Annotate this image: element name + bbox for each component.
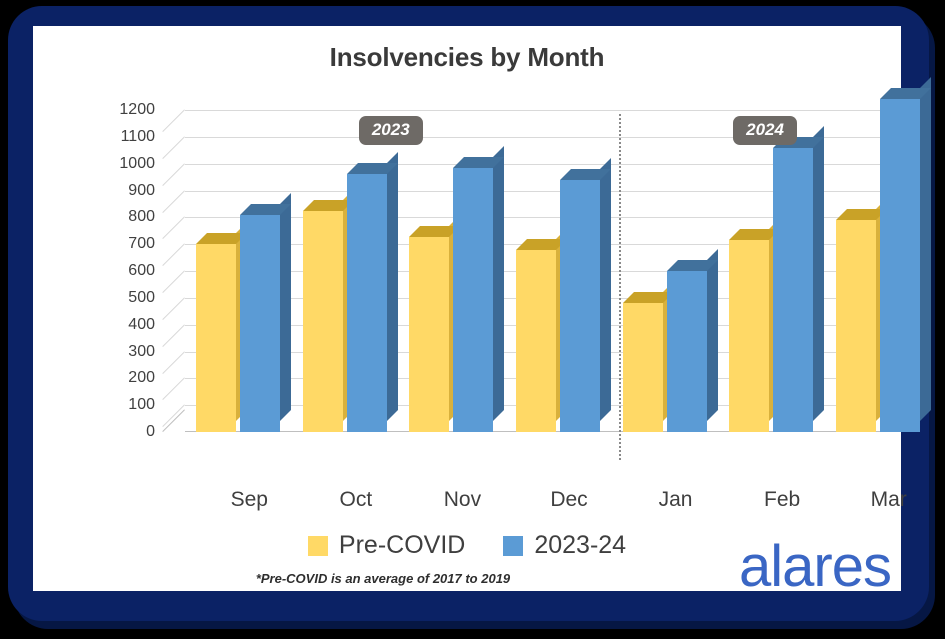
x-axis-tick-label-mar: Mar <box>871 488 907 512</box>
bar-nov-2023-24[interactable] <box>453 168 493 432</box>
gridline-depth-edge <box>163 110 185 132</box>
legend-label-pre-covid: Pre-COVID <box>339 531 465 560</box>
bar-front-face <box>773 148 813 432</box>
bar-group <box>623 110 707 432</box>
bar-group <box>516 110 600 432</box>
legend-label-2023-24: 2023-24 <box>534 531 626 560</box>
bar-front-face <box>196 244 236 432</box>
year-badge-2024: 2024 <box>733 116 797 145</box>
bar-side-face <box>493 146 504 421</box>
gridline-depth-edge <box>163 298 185 320</box>
bar-front-face <box>453 168 493 432</box>
bar-nov-pre-covid[interactable] <box>409 237 449 432</box>
gridline-depth-edge <box>163 164 185 186</box>
x-axis-tick-label-sep: Sep <box>231 488 268 512</box>
alares-logo: alares <box>739 538 891 596</box>
bar-front-face <box>240 215 280 432</box>
grid-area: 20232024 <box>163 110 893 454</box>
y-axis-tick-label: 200 <box>103 369 155 387</box>
bar-front-face <box>347 174 387 432</box>
legend-item-2023-24[interactable]: 2023-24 <box>503 531 626 560</box>
y-axis-tick-label: 1000 <box>103 155 155 173</box>
bar-front-face <box>516 250 556 432</box>
x-axis-tick-label-jan: Jan <box>659 488 693 512</box>
gridline-depth-edge <box>163 137 185 159</box>
bar-side-face <box>813 126 824 421</box>
bar-group <box>303 110 387 432</box>
bar-oct-pre-covid[interactable] <box>303 211 343 432</box>
bar-front-face <box>303 211 343 432</box>
year-badge-2023: 2023 <box>359 116 423 145</box>
bar-side-face <box>280 193 291 421</box>
chart-title: Insolvencies by Month <box>33 42 901 73</box>
y-axis-tick-label: 800 <box>103 208 155 226</box>
bar-mar-2023-24[interactable] <box>880 99 920 432</box>
bar-group <box>729 110 813 432</box>
bar-dec-pre-covid[interactable] <box>516 250 556 432</box>
chart-card: Insolvencies by Month 010020030040050060… <box>33 26 901 591</box>
y-axis-tick-label: 700 <box>103 235 155 253</box>
y-axis-tick-label: 100 <box>103 396 155 414</box>
bar-front-face <box>667 271 707 432</box>
x-axis-tick-label-feb: Feb <box>764 488 800 512</box>
bar-sep-2023-24[interactable] <box>240 215 280 432</box>
bar-oct-2023-24[interactable] <box>347 174 387 432</box>
bar-front-face <box>836 220 876 432</box>
bar-group <box>196 110 280 432</box>
year-divider <box>619 114 621 460</box>
plot-area: 0100200300400500600700800900100011001200… <box>103 110 893 482</box>
bar-group <box>836 110 920 432</box>
bar-side-face <box>600 158 611 421</box>
y-axis-tick-label: 1200 <box>103 101 155 119</box>
bar-jan-2023-24[interactable] <box>667 271 707 432</box>
gridline-depth-edge <box>163 378 185 400</box>
bar-front-face <box>623 303 663 432</box>
chart-footnote: *Pre-COVID is an average of 2017 to 2019 <box>33 571 733 586</box>
x-axis-tick-label-oct: Oct <box>340 488 373 512</box>
y-axis-tick-label: 400 <box>103 316 155 334</box>
y-axis-tick-label: 900 <box>103 182 155 200</box>
x-axis-labels: SepOctNovDecJanFebMar <box>103 488 893 518</box>
legend-swatch-icon-2023-24 <box>503 536 523 556</box>
y-axis-tick-label: 500 <box>103 289 155 307</box>
x-axis-tick-label-nov: Nov <box>444 488 481 512</box>
bar-dec-2023-24[interactable] <box>560 180 600 432</box>
bar-side-face <box>387 152 398 421</box>
y-axis-labels: 0100200300400500600700800900100011001200 <box>103 110 155 454</box>
bar-sep-pre-covid[interactable] <box>196 244 236 432</box>
gridline-depth-edge <box>163 191 185 213</box>
y-axis-tick-label: 600 <box>103 262 155 280</box>
bar-front-face <box>880 99 920 432</box>
bar-series-container <box>185 110 893 432</box>
gridline-depth-edge <box>163 405 185 427</box>
y-axis-tick-label: 0 <box>103 423 155 441</box>
bar-mar-pre-covid[interactable] <box>836 220 876 432</box>
x-axis-tick-label-dec: Dec <box>550 488 587 512</box>
legend-item-pre-covid[interactable]: Pre-COVID <box>308 531 465 560</box>
bar-side-face <box>707 249 718 421</box>
gridline-depth-edge <box>163 352 185 374</box>
bar-feb-pre-covid[interactable] <box>729 240 769 432</box>
outer-frame: Insolvencies by Month 010020030040050060… <box>8 6 929 621</box>
bar-feb-2023-24[interactable] <box>773 148 813 432</box>
bar-front-face <box>729 240 769 432</box>
bar-side-face <box>920 77 931 421</box>
bar-front-face <box>560 180 600 432</box>
bar-front-face <box>409 237 449 432</box>
legend-swatch-icon-pre-covid <box>308 536 328 556</box>
gridline-depth-edge <box>163 217 185 239</box>
y-axis-tick-label: 1100 <box>103 128 155 146</box>
gridline-depth-edge <box>163 325 185 347</box>
gridline-depth-edge <box>163 244 185 266</box>
bar-jan-pre-covid[interactable] <box>623 303 663 432</box>
bar-group <box>409 110 493 432</box>
gridline-depth-edge <box>163 271 185 293</box>
y-axis-tick-label: 300 <box>103 343 155 361</box>
